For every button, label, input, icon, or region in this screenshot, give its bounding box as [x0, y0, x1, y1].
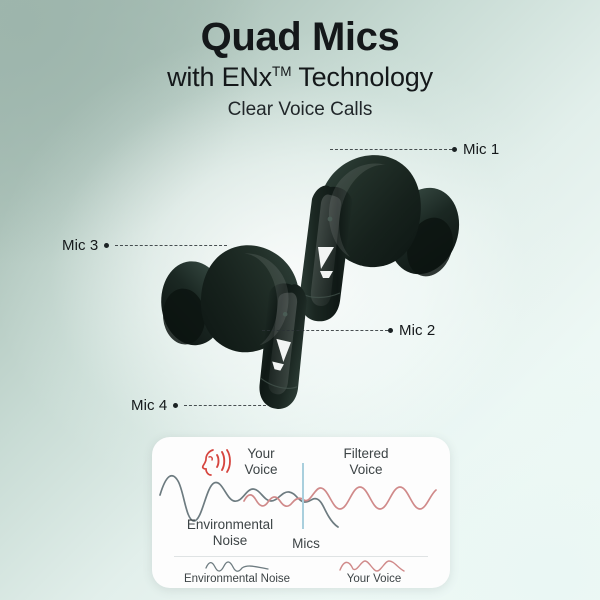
page-subtitle: with ENxTM Technology [0, 63, 600, 93]
callout-label-mic-2: Mic 2 [399, 322, 435, 339]
leader-line-mic-4 [184, 405, 266, 406]
callout-mic-4[interactable]: Mic 4 [131, 396, 266, 414]
leader-line-mic-3 [115, 245, 227, 246]
leader-dot-mic-1 [452, 147, 457, 152]
leader-line-mic-2 [262, 330, 388, 331]
callout-label-mic-3: Mic 3 [62, 237, 98, 254]
panel-label-environmental-noise: Environmental Noise [172, 517, 288, 549]
panel-label-mics: Mics [280, 536, 332, 552]
page-title: Quad Mics [0, 16, 600, 58]
legend-label-your-voice: Your Voice [312, 573, 436, 585]
trademark-mark: TM [272, 64, 292, 79]
subtitle-pre: with ENx [167, 62, 272, 92]
mic-port-icon [328, 217, 333, 222]
callout-label-mic-1: Mic 1 [463, 141, 499, 158]
mics-divider-line [302, 463, 304, 529]
legend-swatch-your-voice [338, 558, 406, 573]
leader-line-mic-1 [330, 149, 452, 150]
legend-label-environmental-noise: Environmental Noise [162, 573, 312, 585]
enx-explainer-panel: Your Voice Filtered Voice Environmental … [152, 437, 450, 588]
your-voice-wave [244, 487, 436, 509]
env-noise-line-2: Noise [213, 533, 248, 548]
leader-dot-mic-4 [173, 403, 178, 408]
callout-label-mic-4: Mic 4 [131, 397, 167, 414]
legend-separator [174, 556, 428, 557]
leader-dot-mic-2 [388, 328, 393, 333]
subtitle-post: Technology [292, 62, 433, 92]
infographic-canvas: Quad Mics with ENxTM Technology Clear Vo… [0, 0, 600, 600]
callout-mic-3[interactable]: Mic 3 [62, 236, 227, 254]
callout-mic-2[interactable]: Mic 2 [262, 321, 435, 339]
legend-swatch-environmental-noise [204, 559, 270, 573]
leader-dot-mic-3 [104, 243, 109, 248]
page-tagline: Clear Voice Calls [0, 99, 600, 121]
callout-mic-1[interactable]: Mic 1 [330, 140, 499, 158]
env-noise-line-1: Environmental [187, 517, 273, 532]
